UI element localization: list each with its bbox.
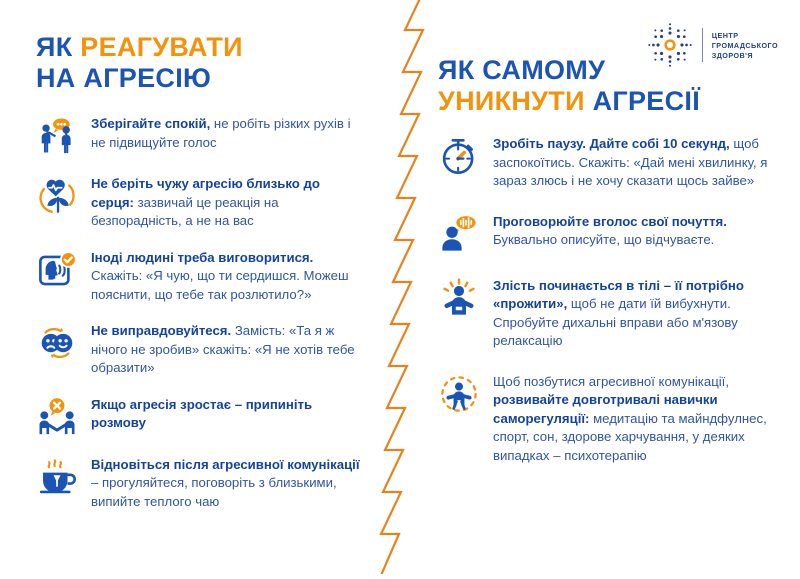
right-heading-part-2: УНИКНУТИ <box>438 86 593 116</box>
heart-leaf-icon <box>36 175 78 217</box>
list-item-bold: Відновіться після агресивної комунікації <box>91 457 360 472</box>
two-people-talking-icon <box>36 115 78 157</box>
stopwatch-icon <box>438 135 480 177</box>
person-arms-up-rays-icon <box>438 277 480 319</box>
list-item-bold: Не виправдовуйтеся. <box>91 323 231 338</box>
list-item-bold: Зробіть паузу. Дайте собі 10 секунд, <box>493 136 730 151</box>
left-heading-part-3: НА АГРЕСІЮ <box>36 63 211 93</box>
list-item-text: Щоб позбутися агресивної комунікації, ро… <box>493 372 768 466</box>
list-item-text: Зберігайте спокій, не робіть різких рухі… <box>91 114 366 152</box>
list-item: Відновіться після агресивної комунікації… <box>36 455 366 512</box>
hot-cup-icon <box>36 456 78 498</box>
right-tips-list: Зробіть паузу. Дайте собі 10 секунд, щоб… <box>438 134 768 486</box>
list-item-pre: Щоб позбутися агресивної комунікації, <box>493 374 729 389</box>
list-item: Не виправдовуйтеся. Замість: «Та я ж ніч… <box>36 321 366 378</box>
left-heading-part-2: РЕАГУВАТИ <box>80 32 243 62</box>
list-item-bold: Якщо агресія зростає – припиніть розмову <box>91 397 312 431</box>
right-heading: ЯК САМОМУ УНИКНУТИ АГРЕСІЇ <box>438 55 768 117</box>
list-item: Зберігайте спокій, не робіть різких рухі… <box>36 114 366 157</box>
right-heading-part-1: ЯК САМОМУ <box>438 55 605 85</box>
list-item-bold: Зберігайте спокій, <box>91 116 210 131</box>
person-speech-waves-icon <box>438 213 480 255</box>
left-column: ЯК РЕАГУВАТИ НА АГРЕСІЮ Збері <box>36 0 366 528</box>
list-item: Проговорюйте вголос свої почуття. Буквал… <box>438 212 768 255</box>
list-item: Якщо агресія зростає – припиніть розмову <box>36 395 366 438</box>
list-item-rest: Буквально описуйте, що відчуваєте. <box>493 232 714 247</box>
infographic-poster: ЦЕНТР ГРОМАДСЬКОГО ЗДОРОВ'Я ЯК РЕАГУВАТИ… <box>0 0 800 566</box>
left-tips-list: Зберігайте спокій, не робіть різких рухі… <box>36 114 366 528</box>
left-heading-part-1: ЯК <box>36 32 80 62</box>
list-item-rest: Скажіть: «Я чую, що ти сердишся. Можеш п… <box>91 268 349 302</box>
list-item: Зробіть паузу. Дайте собі 10 секунд, щоб… <box>438 134 768 191</box>
list-item: Щоб позбутися агресивної комунікації, ро… <box>438 372 768 466</box>
right-heading-part-3: АГРЕСІЇ <box>593 86 700 116</box>
list-item-bold: Іноді людині треба виговоритися. <box>91 250 313 265</box>
list-item-text: Не беріть чужу агресію близько до серця:… <box>91 174 366 231</box>
stop-conversation-icon <box>36 396 78 438</box>
list-item: Не беріть чужу агресію близько до серця:… <box>36 174 366 231</box>
list-item: Злість починається в тілі – її потрібно … <box>438 276 768 351</box>
list-item: Іноді людині треба виговоритися. Скажіть… <box>36 248 366 305</box>
list-item-rest: – прогуляйтеся, поговоріть з близькими, … <box>91 475 337 509</box>
list-item-text: Відновіться після агресивної комунікації… <box>91 455 366 512</box>
right-column: ЯК САМОМУ УНИКНУТИ АГРЕСІЇ <box>438 0 768 486</box>
list-item-text: Проговорюйте вголос свої почуття. Буквал… <box>493 212 768 250</box>
left-heading: ЯК РЕАГУВАТИ НА АГРЕСІЮ <box>36 32 366 94</box>
speaking-head-check-icon <box>36 249 78 291</box>
list-item-text: Якщо агресія зростає – припиніть розмову <box>91 395 366 433</box>
two-faces-swap-icon <box>36 322 78 364</box>
zigzag-divider <box>371 0 427 574</box>
list-item-text: Не виправдовуйтеся. Замість: «Та я ж ніч… <box>91 321 366 378</box>
person-in-dashed-circle-icon <box>438 373 480 415</box>
list-item-text: Іноді людині треба виговоритися. Скажіть… <box>91 248 366 305</box>
list-item-text: Зробіть паузу. Дайте собі 10 секунд, щоб… <box>493 134 768 191</box>
list-item-text: Злість починається в тілі – її потрібно … <box>493 276 768 351</box>
list-item-bold: Проговорюйте вголос свої почуття. <box>493 214 727 229</box>
